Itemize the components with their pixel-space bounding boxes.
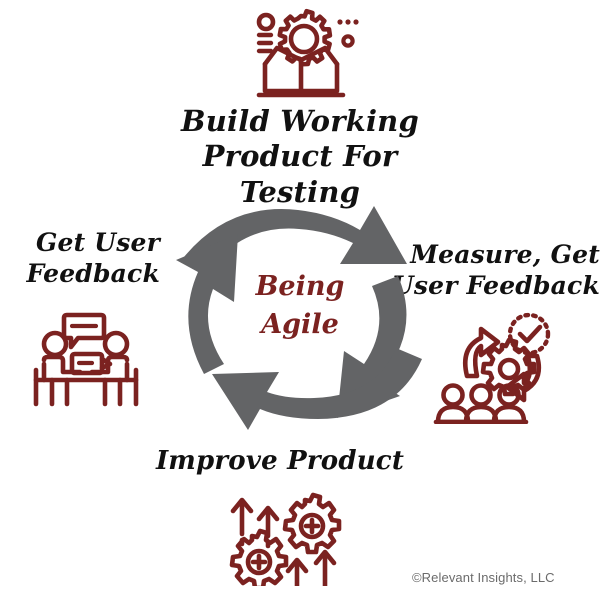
step-label-build: Build Working Product For Testing — [150, 104, 450, 210]
open-box-gear-icon — [238, 2, 364, 102]
arrow-bottom — [212, 348, 422, 430]
gears-up-arrows-icon — [226, 492, 346, 586]
gear-people-check-icon — [432, 312, 558, 424]
agile-cycle-diagram: Build Working Product For Testing Get Us… — [0, 0, 600, 600]
center-label-being-agile: Being Agile — [225, 268, 375, 344]
copyright-notice: ©Relevant Insights, LLC — [412, 570, 555, 585]
step-label-improve: Improve Product — [150, 446, 410, 478]
step-label-get-user-feedback: Get User Feedback — [0, 228, 166, 289]
meeting-speech-bubbles-icon — [26, 312, 146, 410]
